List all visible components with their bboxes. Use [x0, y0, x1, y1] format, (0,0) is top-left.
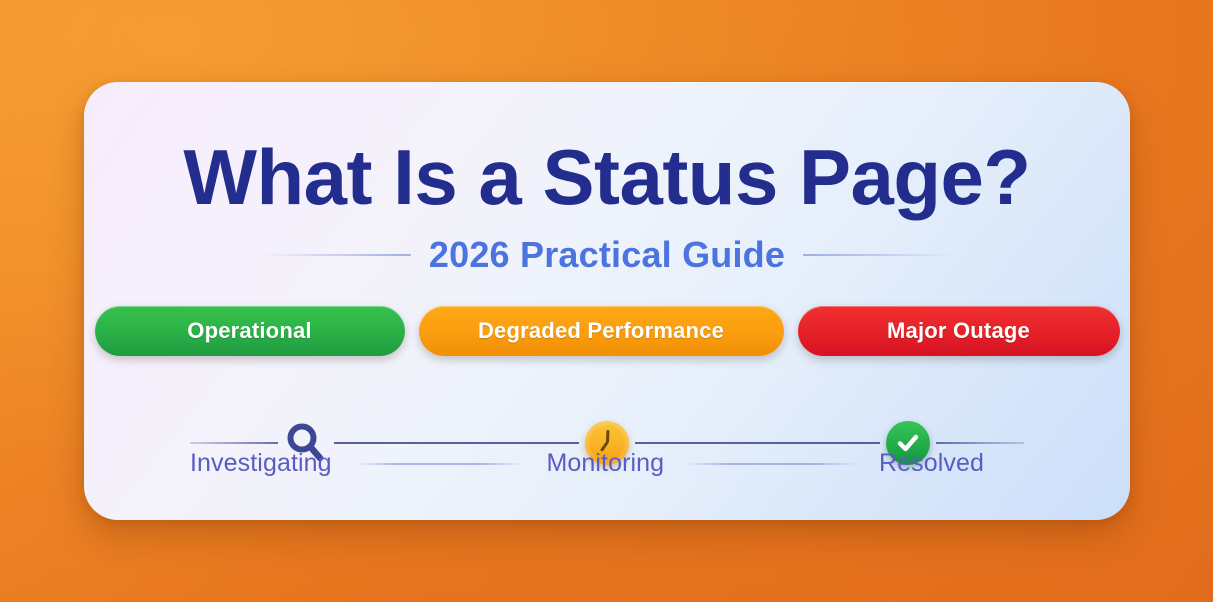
status-badge-degraded-performance[interactable]: Degraded Performance [419, 306, 784, 356]
timeline-label-resolved: Resolved [879, 449, 984, 478]
timeline-connector-start [190, 442, 278, 444]
incident-timeline: Investigating Monitoring Resolved [190, 387, 1024, 499]
subtitle-rule-right [803, 254, 953, 256]
timeline-label-rule-2 [686, 463, 857, 465]
status-badge-operational[interactable]: Operational [95, 306, 405, 356]
status-page-card: What Is a Status Page? 2026 Practical Gu… [84, 82, 1130, 520]
timeline-connector-end [936, 442, 1024, 444]
timeline-label-monitoring: Monitoring [546, 449, 664, 478]
timeline-label-row: Investigating Monitoring Resolved [190, 449, 1024, 478]
timeline-label-rule-1 [354, 463, 525, 465]
timeline-connector-2 [635, 442, 880, 444]
status-badge-major-outage[interactable]: Major Outage [798, 306, 1120, 356]
timeline-label-investigating: Investigating [190, 449, 332, 478]
subtitle-row: 2026 Practical Guide [84, 234, 1130, 276]
poster-canvas: What Is a Status Page? 2026 Practical Gu… [0, 0, 1213, 602]
subtitle-rule-left [261, 254, 411, 256]
page-title: What Is a Status Page? [84, 138, 1130, 216]
page-subtitle: 2026 Practical Guide [429, 234, 785, 276]
timeline-connector-1 [334, 442, 579, 444]
status-pill-group: Operational Degraded Performance Major O… [84, 306, 1130, 356]
